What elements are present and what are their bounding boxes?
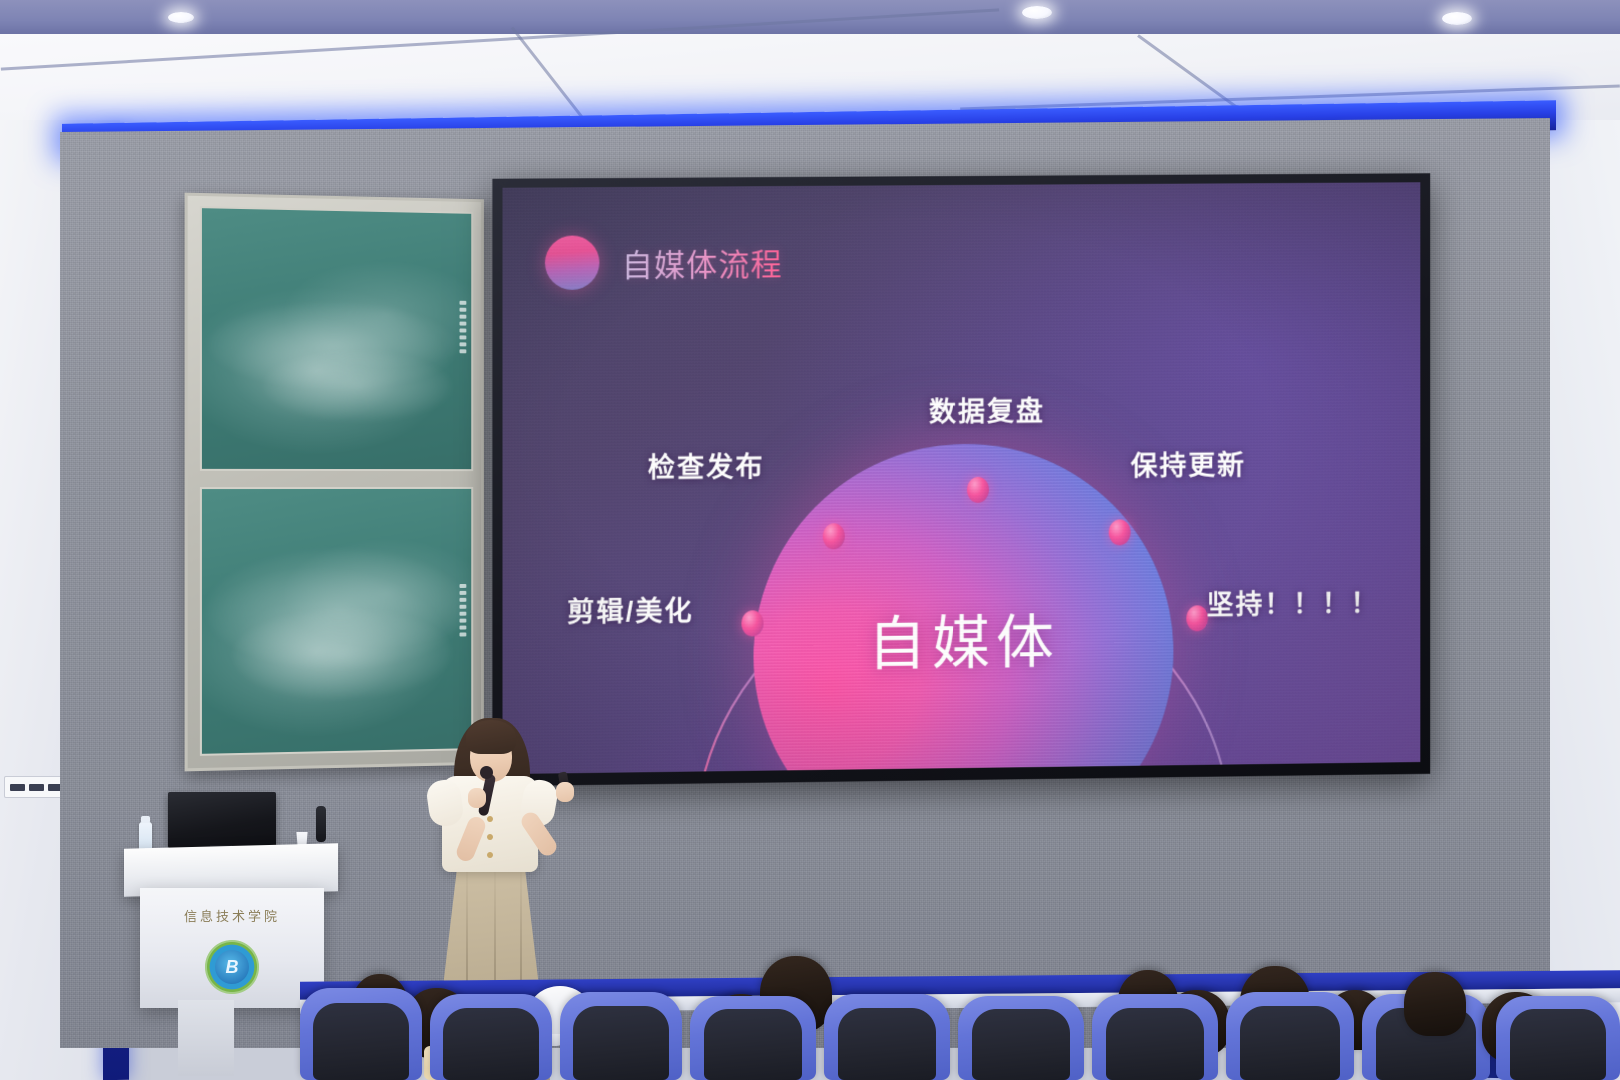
ceiling-band: [0, 0, 1620, 34]
school-emblem-icon: B: [205, 940, 259, 994]
auditorium-seat[interactable]: [958, 996, 1084, 1080]
auditorium-seat[interactable]: [430, 994, 552, 1080]
node-dot-persist[interactable]: [1186, 605, 1208, 631]
chalkboard-rail-lower: [459, 584, 467, 637]
node-dot-check-publish[interactable]: [822, 523, 844, 549]
auditorium-seat[interactable]: [560, 992, 682, 1080]
node-label-edit-beautify: 剪辑/美化: [567, 588, 694, 629]
presentation-slide[interactable]: 自媒体流程 自媒体: [502, 182, 1420, 774]
presenter-hair-front: [466, 720, 516, 754]
node-label-data-review: 数据复盘: [929, 389, 1045, 429]
seat-cushion: [972, 1009, 1070, 1080]
node-dot-edit-beautify[interactable]: [741, 610, 763, 636]
switch-key[interactable]: [10, 784, 25, 791]
downlight-1: [168, 12, 194, 23]
lectern-monitor: [168, 792, 276, 848]
bottle-cap: [141, 816, 150, 823]
switch-key[interactable]: [29, 784, 44, 791]
node-dot-keep-updating[interactable]: [1109, 519, 1131, 545]
lecture-hall-photo: 自媒体流程 自媒体: [0, 0, 1620, 1080]
audience-head: [1404, 972, 1466, 1036]
auditorium-seat[interactable]: [1226, 992, 1354, 1080]
chalkboard: [185, 193, 484, 772]
auditorium-seat[interactable]: [300, 988, 422, 1080]
downlight-3: [1442, 12, 1472, 25]
presenter-hand-left: [468, 788, 486, 808]
seat-cushion: [1510, 1009, 1607, 1080]
seat-cushion: [704, 1009, 802, 1080]
emblem-letter: B: [215, 950, 249, 984]
seat-cushion: [313, 1003, 408, 1080]
node-label-persist: 坚持！！！！: [1207, 581, 1380, 622]
node-dot-data-review[interactable]: [967, 477, 989, 503]
seat-cushion: [1240, 1006, 1340, 1080]
seat-cushion: [1106, 1008, 1204, 1080]
lectern-sign-text: 信息技术学院: [140, 906, 324, 925]
auditorium-seat[interactable]: [1496, 996, 1620, 1080]
node-label-keep-updating: 保持更新: [1131, 443, 1246, 483]
downlight-2: [1022, 6, 1052, 19]
led-display-bezel: 自媒体流程 自媒体: [492, 173, 1430, 786]
center-label: 自媒体: [868, 595, 1060, 681]
node-label-check-publish: 检查发布: [648, 444, 765, 484]
chalkboard-panel-upper: [200, 206, 473, 471]
seat-cushion: [838, 1008, 936, 1080]
auditorium-seat[interactable]: [690, 996, 816, 1080]
seat-cushion: [443, 1008, 538, 1080]
auditorium-seat[interactable]: [824, 994, 950, 1080]
auditorium-seat[interactable]: [1092, 994, 1218, 1080]
chalkboard-rail-upper: [459, 301, 467, 354]
presenter-hand-right: [556, 782, 574, 802]
lectern: 信息技术学院 B: [140, 888, 324, 1008]
microphone-head: [480, 766, 493, 779]
seat-cushion: [573, 1006, 668, 1080]
lectern-post: [178, 1000, 234, 1076]
desk-microphone: [316, 806, 326, 842]
